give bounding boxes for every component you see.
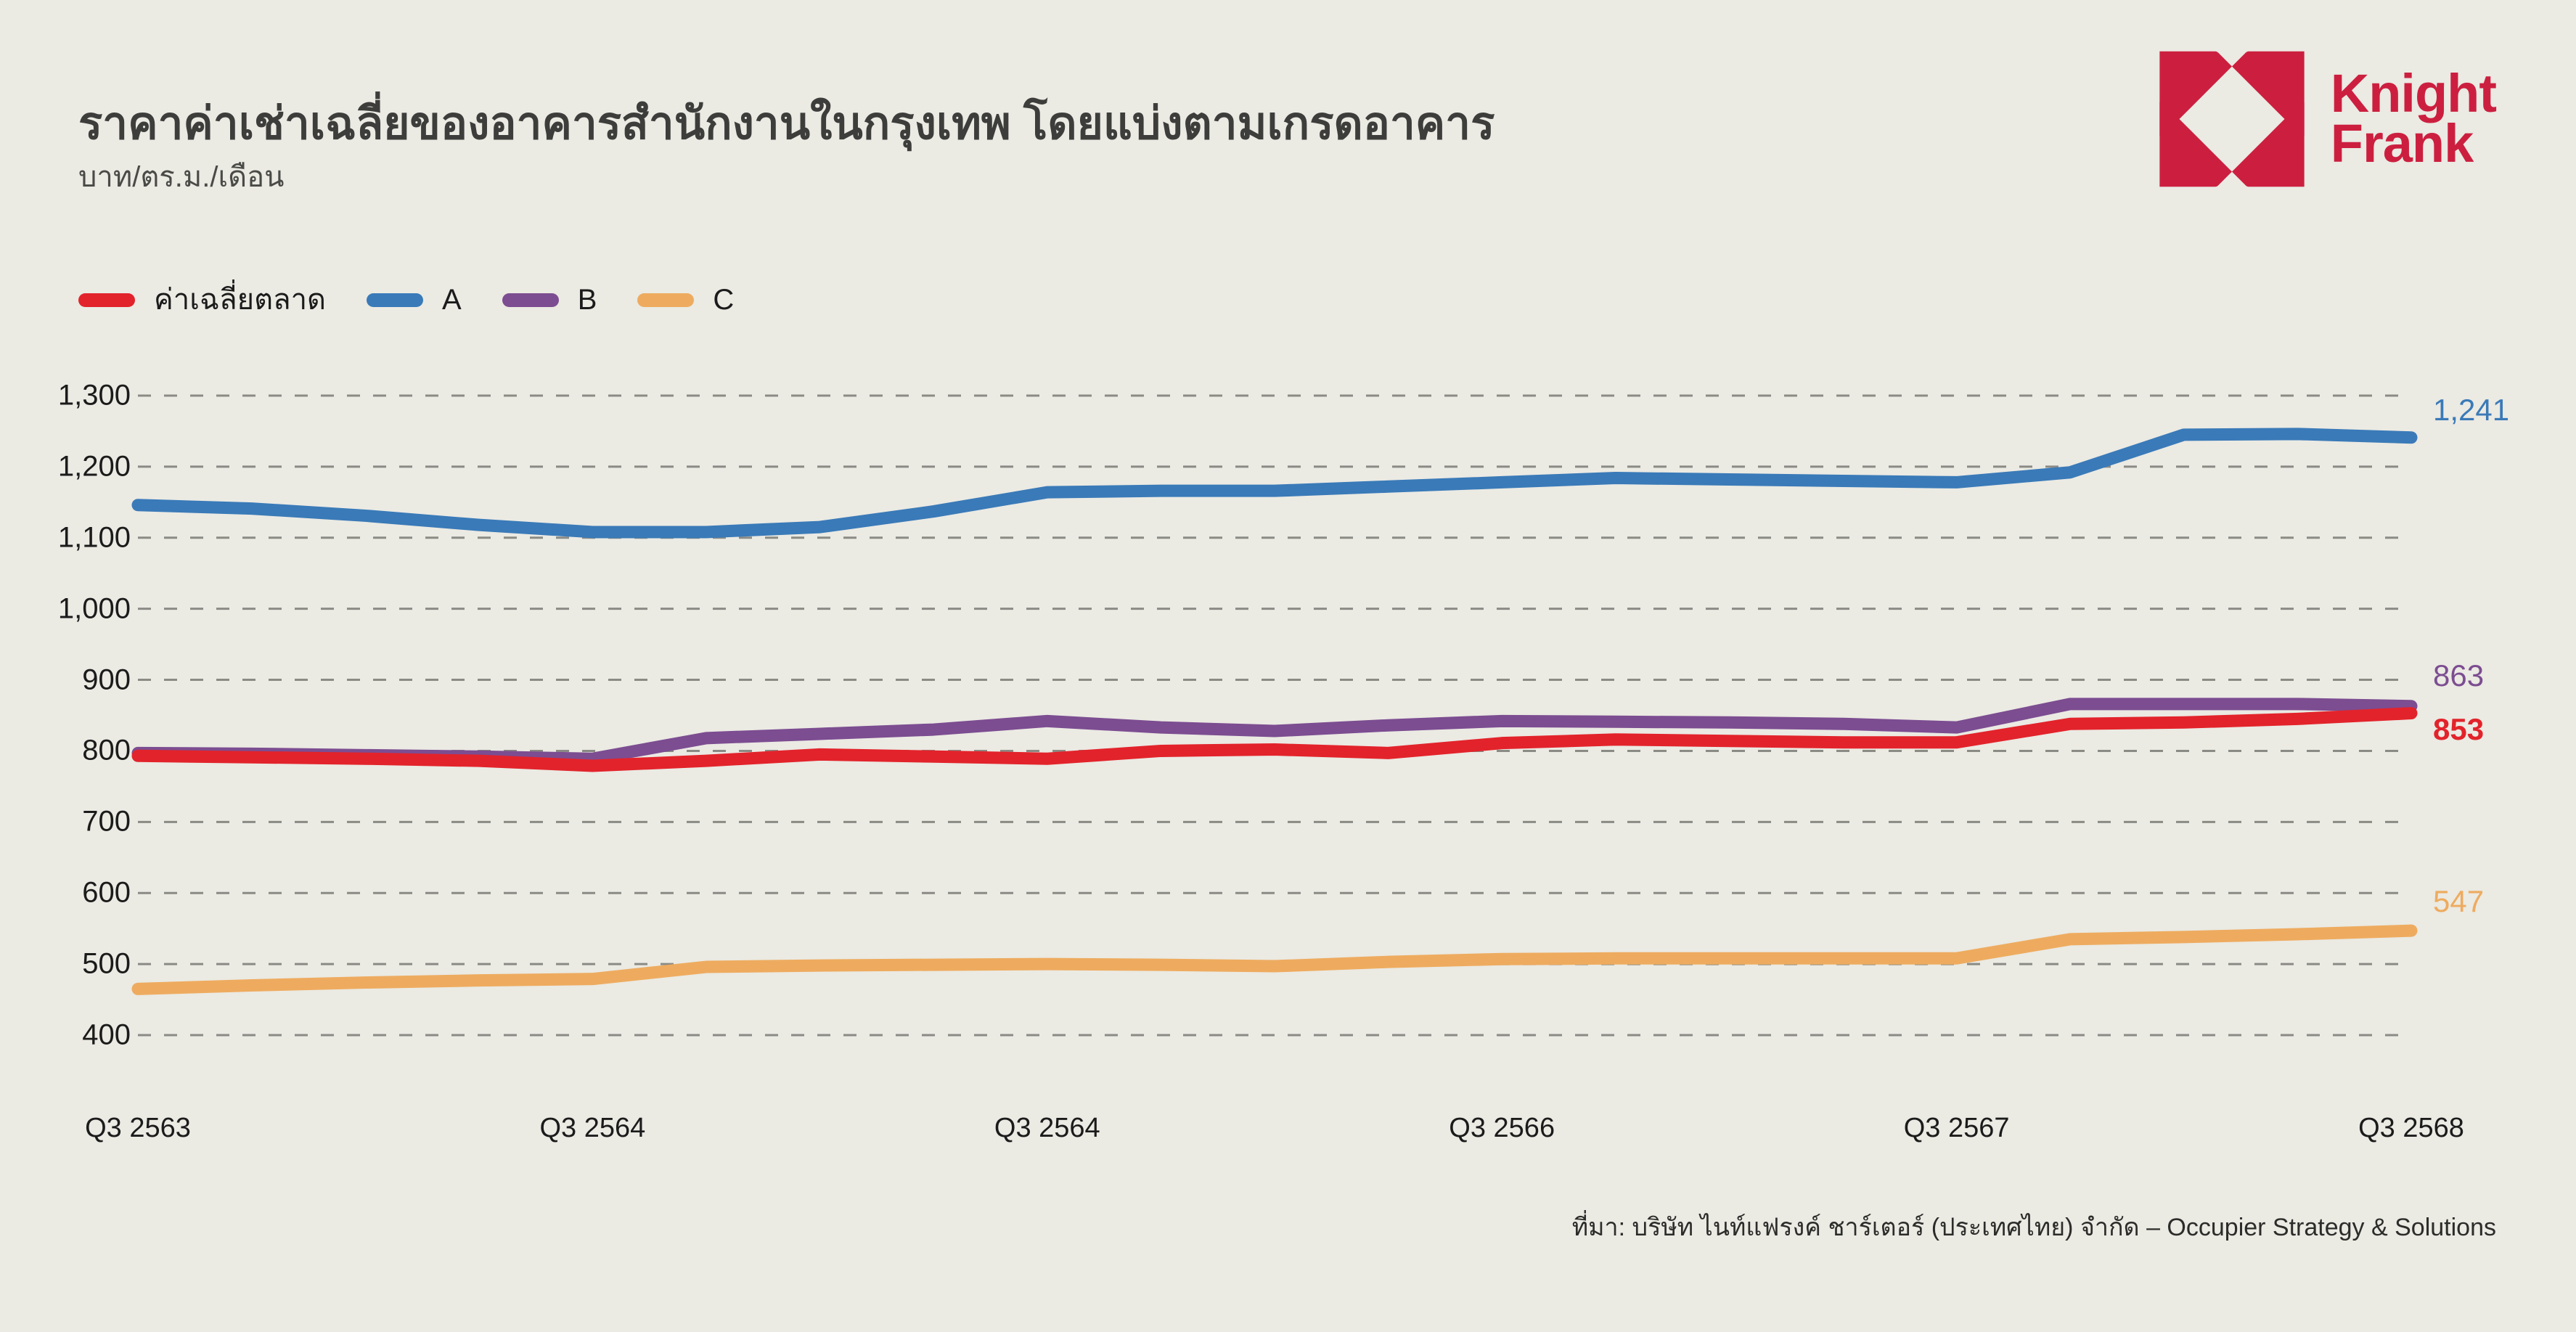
x-axis-tick-0: Q3 2563 [85,1113,191,1144]
series-line-grade_c [138,931,2411,989]
legend-label-market-average: ค่าเฉลี่ยตลาด [154,285,326,314]
legend-label-grade-b: B [578,285,597,314]
plot-svg [0,0,2576,1332]
x-axis-tick-2: Q3 2564 [994,1113,1100,1144]
knight-frank-logo: Knight Frank [2155,42,2496,196]
end-label-grade_b: 863 [2433,661,2484,691]
legend-swatch-market-average [78,293,135,307]
legend-swatch-grade-c [637,293,694,307]
y-axis-tick-800: 800 [82,735,131,767]
legend-item-market-average[interactable]: ค่าเฉลี่ยตลาด [78,285,326,314]
chart-legend: ค่าเฉลี่ยตลาด A B C [78,285,774,314]
y-axis-tick-700: 700 [82,806,131,838]
end-label-grade_a: 1,241 [2433,395,2509,425]
y-axis-tick-900: 900 [82,663,131,696]
x-axis-tick-5: Q3 2568 [2358,1113,2464,1144]
legend-item-grade-c[interactable]: C [637,285,734,314]
chart-subtitle: บาท/ตร.ม./เดือน [78,163,1966,192]
chart-header: ราคาค่าเช่าเฉลี่ยของอาคารสำนักงานในกรุงเ… [78,102,1966,192]
x-axis-tick-3: Q3 2566 [1449,1113,1555,1144]
y-axis-tick-600: 600 [82,877,131,910]
y-axis-tick-1200: 1,200 [58,450,131,483]
legend-label-grade-a: A [442,285,462,314]
series-line-grade_a [138,434,2411,532]
source-note: ที่มา: บริษัท ไนท์แฟรงค์ ชาร์เตอร์ (ประเ… [1572,1207,2496,1246]
logo-line-2: Frank [2331,119,2496,169]
legend-item-grade-a[interactable]: A [367,285,462,314]
series-line-market_average [138,714,2411,766]
knight-frank-wordmark: Knight Frank [2331,69,2496,169]
knight-frank-mark-icon [2155,42,2309,196]
end-label-grade_c: 547 [2433,886,2484,917]
plot-area [0,0,2576,1332]
chart-root: ราคาค่าเช่าเฉลี่ยของอาคารสำนักงานในกรุงเ… [0,0,2576,1332]
x-axis-tick-4: Q3 2567 [1904,1113,2010,1144]
legend-swatch-grade-a [367,293,423,307]
y-axis-tick-1000: 1,000 [58,592,131,625]
y-axis-tick-1300: 1,300 [58,380,131,412]
page-title: ราคาค่าเช่าเฉลี่ยของอาคารสำนักงานในกรุงเ… [78,102,1966,147]
legend-item-grade-b[interactable]: B [502,285,597,314]
end-label-market_average: 853 [2433,714,2484,745]
y-axis-tick-500: 500 [82,948,131,981]
series-line-grade_b [138,704,2411,759]
logo-line-1: Knight [2331,69,2496,119]
legend-swatch-grade-b [502,293,559,307]
y-axis-tick-1100: 1,100 [58,521,131,554]
y-axis-tick-400: 400 [82,1019,131,1052]
legend-label-grade-c: C [713,285,734,314]
x-axis-tick-1: Q3 2564 [539,1113,645,1144]
